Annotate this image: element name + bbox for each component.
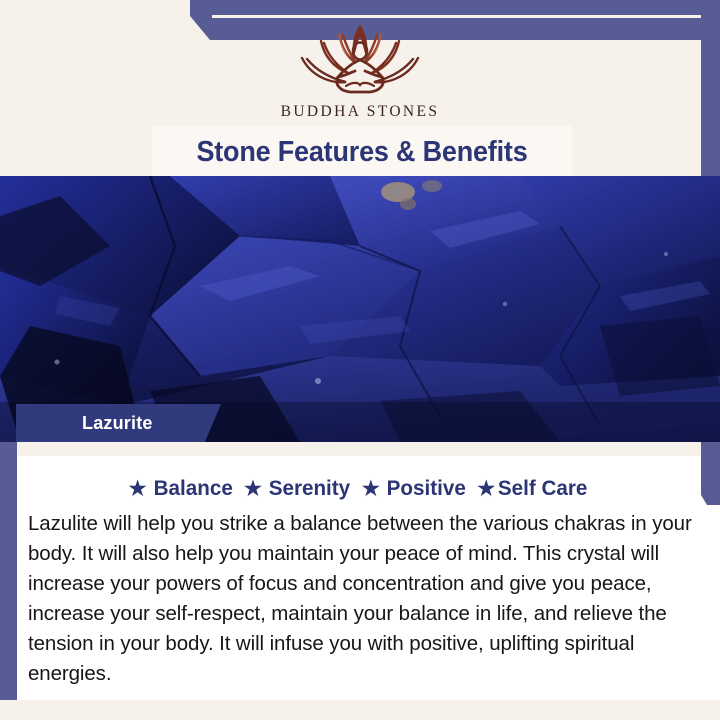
stone-description-text: Lazulite will help you strike a balance … (28, 509, 692, 689)
stone-name-banner: Lazurite (16, 404, 221, 442)
brand-logo: BUDDHA STONES (0, 18, 720, 121)
benefit-item-positive: ★ Positive (362, 476, 467, 501)
stone-feature-card: BUDDHA STONES Stone Features & Benefits (0, 0, 720, 720)
lotus-meditation-icon (0, 18, 720, 100)
bottom-accent-strip (0, 700, 720, 720)
stone-description: Lazulite will help you strike a balance … (28, 509, 692, 689)
stone-photo (0, 176, 720, 442)
content-panel-top-strip (17, 442, 701, 456)
page-title: Stone Features & Benefits (196, 136, 527, 169)
benefit-item-self-care: ★ Self Care (477, 476, 589, 501)
benefit-item-serenity: ★ Serenity (244, 476, 352, 501)
stone-name: Lazurite (82, 413, 153, 434)
brand-name: BUDDHA STONES (0, 103, 720, 121)
star-icon: ★ (362, 479, 380, 499)
title-banner: Stone Features & Benefits (152, 126, 572, 178)
benefit-label: Self Care (498, 476, 587, 501)
star-icon: ★ (129, 479, 147, 499)
star-icon: ★ (244, 479, 262, 499)
benefit-item-balance: ★ Balance (129, 476, 234, 501)
benefits-row: ★ Balance ★ Serenity ★ Positive ★ Self C… (17, 476, 701, 501)
benefit-label: Serenity (269, 476, 350, 501)
star-icon: ★ (477, 479, 495, 499)
left-accent-strip (0, 430, 17, 702)
benefit-label: Balance (153, 476, 232, 501)
benefit-label: Positive (386, 476, 465, 501)
